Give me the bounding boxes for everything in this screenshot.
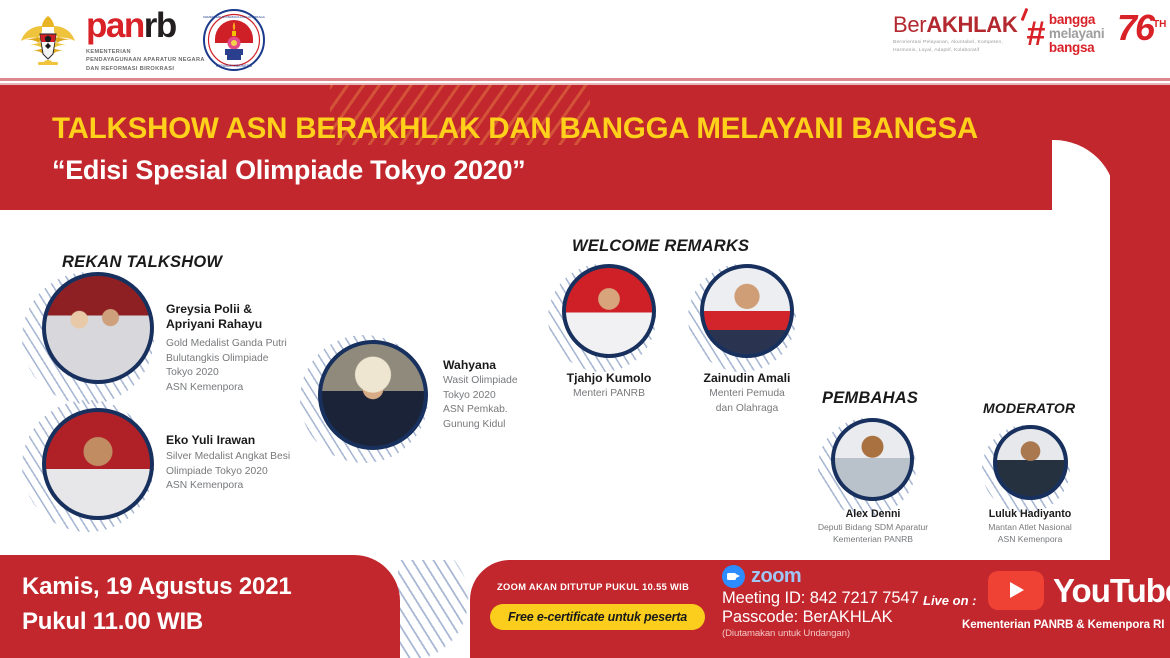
talkshow-poster: panrb KEMENTERIAN PENDAYAGUNAAN APARATUR… — [0, 0, 1170, 658]
event-date: Kamis, 19 Agustus 2021 — [22, 573, 292, 601]
section-heading-rekan-talkshow: REKAN TALKSHOW — [62, 253, 222, 272]
panrb-word-pan: pan — [86, 6, 144, 45]
header-divider-line — [0, 78, 1170, 81]
meeting-id: Meeting ID: 842 7217 7547 — [722, 589, 919, 608]
zoom-logo: zoom — [722, 565, 801, 588]
photo-tjahjo-kumolo-image — [566, 268, 652, 354]
svg-text:KEMENTERIAN PEMUDA DAN OLAHRAG: KEMENTERIAN PEMUDA DAN OLAHRAGA — [203, 15, 265, 19]
berakhlak-ber: Ber — [893, 12, 926, 37]
page-title: TALKSHOW ASN BERAKHLAK DAN BANGGA MELAYA… — [52, 112, 978, 146]
bmb-line-bangsa: bangsa — [1049, 41, 1104, 55]
svg-text:REPUBLIK INDONESIA: REPUBLIK INDONESIA — [216, 64, 253, 68]
photo-luluk-hadiyanto-image — [997, 429, 1064, 496]
panrb-logo: panrb KEMENTERIAN PENDAYAGUNAAN APARATUR… — [18, 8, 205, 73]
bangga-melayani-bangsa-words: bangga melayani bangsa — [1049, 13, 1104, 54]
zoom-wordmark: zoom — [751, 565, 801, 588]
person-role-wahyana: Wasit Olimpiade Tokyo 2020 ASN Pemkab. G… — [443, 374, 518, 432]
photo-zainudin-amali-image — [704, 268, 790, 354]
person-name-eko: Eko Yuli Irawan — [166, 433, 255, 448]
banner-curve-notch-fill — [1110, 140, 1170, 212]
person-role-luluk: Mantan Atlet Nasional ASN Kemenpora — [960, 521, 1100, 545]
meeting-passcode: Passcode: BerAKHLAK — [722, 608, 893, 627]
youtube-wordmark: YouTube — [1053, 574, 1170, 607]
photo-greysia-apriyani-image — [46, 276, 150, 380]
youtube-play-icon — [988, 571, 1044, 610]
photo-alex-denni-image — [835, 422, 910, 497]
photo-wahyana-image — [322, 344, 424, 446]
hashtag-icon: # — [1026, 17, 1045, 51]
anniversary-number: 76 — [1117, 7, 1153, 48]
bmb-line-bangga: bangga — [1049, 13, 1104, 27]
anniversary-76-logo: 76TH — [1117, 10, 1166, 46]
poster-header: panrb KEMENTERIAN PENDAYAGUNAAN APARATUR… — [0, 0, 1170, 82]
live-on-label: Live on : — [923, 593, 976, 608]
person-name-alex: Alex Denni — [807, 508, 939, 521]
anniversary-suffix: TH — [1153, 19, 1166, 30]
ecertificate-label: Free e-certificate untuk peserta — [508, 610, 687, 624]
garuda-pancasila-icon — [18, 10, 78, 72]
person-name-wahyana: Wahyana — [443, 358, 496, 373]
photo-tjahjo-kumolo — [562, 264, 656, 358]
berakhlak-wordmark: BerAKHLAK — [893, 14, 1017, 36]
berakhlak-subtitle: Berorientasi Pelayanan, Akuntabel, Kompe… — [893, 39, 1017, 55]
header-divider-line-2 — [0, 83, 1170, 85]
section-heading-moderator: MODERATOR — [983, 400, 1075, 416]
photo-greysia-apriyani — [42, 272, 154, 384]
person-role-zainudin: Menteri Pemuda dan Olahraga — [682, 387, 812, 416]
berakhlak-akhlak: AKHLAK — [926, 12, 1017, 37]
person-role-eko: Silver Medalist Angkat Besi Olimpiade To… — [166, 450, 290, 494]
person-role-tjahjo: Menteri PANRB — [544, 387, 674, 402]
page-subtitle: “Edisi Spesial Olimpiade Tokyo 2020” — [52, 155, 525, 186]
photo-alex-denni — [831, 418, 914, 501]
event-datetime-panel: Kamis, 19 Agustus 2021 Pukul 11.00 WIB — [0, 555, 400, 658]
person-role-alex: Deputi Bidang SDM Aparatur Kementerian P… — [797, 521, 949, 545]
kemenpora-seal-logo-icon: KEMENTERIAN PEMUDA DAN OLAHRAGA REPUBLIK… — [203, 9, 265, 71]
section-heading-pembahas: PEMBAHAS — [822, 389, 918, 408]
ecertificate-badge: Free e-certificate untuk peserta — [490, 604, 705, 630]
youtube-channels: Kementerian PANRB & Kemenpora RI — [962, 619, 1164, 631]
section-heading-welcome-remarks: WELCOME REMARKS — [572, 237, 749, 256]
berakhlak-logo: BerAKHLAK Berorientasi Pelayanan, Akunta… — [893, 14, 1017, 55]
person-name-zainudin: Zainudin Amali — [682, 371, 812, 386]
person-name-tjahjo: Tjahjo Kumolo — [544, 371, 674, 386]
video-camera-icon — [722, 565, 745, 588]
photo-eko-yuli-irawan-image — [46, 412, 150, 516]
panrb-wordmark: panrb KEMENTERIAN PENDAYAGUNAAN APARATUR… — [86, 8, 205, 73]
panrb-word-rb: rb — [144, 6, 176, 45]
photo-wahyana — [318, 340, 428, 450]
panrb-word: panrb — [86, 8, 205, 43]
bangga-melayani-bangsa-logo: # bangga melayani bangsa — [1026, 13, 1104, 54]
photo-luluk-hadiyanto — [993, 425, 1068, 500]
panrb-subtitle: KEMENTERIAN PENDAYAGUNAAN APARATUR NEGAR… — [86, 48, 205, 73]
bmb-line-melayani: melayani — [1049, 27, 1104, 41]
photo-zainudin-amali — [700, 264, 794, 358]
photo-eko-yuli-irawan — [42, 408, 154, 520]
zoom-close-note: ZOOM AKAN DITUTUP PUKUL 10.55 WIB — [497, 582, 689, 592]
passcode-note: (Diutamakan untuk Undangan) — [722, 628, 850, 639]
person-name-luluk: Luluk Hadiyanto — [965, 508, 1095, 521]
title-banner — [0, 85, 1110, 210]
person-name-greysia: Greysia Polii & Apriyani Rahayu — [166, 302, 262, 332]
person-role-greysia: Gold Medalist Ganda Putri Bulutangkis Ol… — [166, 337, 287, 395]
youtube-logo: YouTube — [988, 571, 1170, 610]
event-time: Pukul 11.00 WIB — [22, 608, 203, 636]
